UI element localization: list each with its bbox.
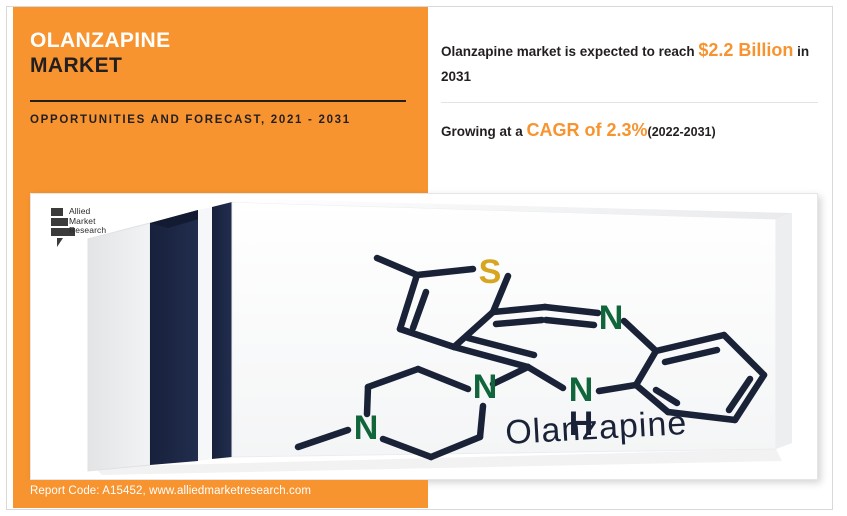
atom-nitrogen-amine: N xyxy=(569,371,594,409)
infographic-root: OLANZAPINE MARKET OPPORTUNITIES AND FORE… xyxy=(0,0,847,516)
stat-cagr: Growing at a CAGR of 2.3%(2022-2031) xyxy=(441,118,819,145)
stats-panel: Olanzapine market is expected to reach $… xyxy=(428,7,832,185)
bond-c2-cimine-double xyxy=(496,320,542,324)
stat-cagr-value: CAGR of 2.3% xyxy=(527,120,648,140)
stat-market-size-value: $2.2 Billion xyxy=(698,40,793,60)
atom-nitrogen-imine: N xyxy=(599,299,624,337)
atom-nitrogen-piperazine-1: N xyxy=(473,368,498,406)
box-navy-spine xyxy=(150,210,198,465)
box-left-panel xyxy=(88,223,150,471)
logo-bar-2 xyxy=(51,218,68,226)
artwork-card: Allied Market Research xyxy=(30,193,818,480)
footer-report-code: Report Code: A15452, www.alliedmarketres… xyxy=(30,485,311,497)
box-right-edge xyxy=(776,213,792,449)
box-navy-stripe xyxy=(212,202,232,459)
stat-cagr-period: (2022-2031) xyxy=(648,125,716,139)
bond-pip-6 xyxy=(480,406,483,437)
stat-market-size-line: Olanzapine market is expected to reach $… xyxy=(441,38,819,89)
atom-sulfur: S xyxy=(479,253,502,291)
footer-bar: Report Code: A15452, www.alliedmarketres… xyxy=(13,480,428,508)
stat-cagr-line: Growing at a CAGR of 2.3%(2022-2031) xyxy=(441,118,819,145)
stats-divider xyxy=(441,102,818,103)
title-line-secondary: MARKET xyxy=(30,53,408,78)
title-line-primary: OLANZAPINE xyxy=(30,28,408,53)
box-gap xyxy=(198,207,212,461)
molecule-box-illustration: S N N H N N Olanzapine xyxy=(76,199,806,479)
title-divider xyxy=(30,100,406,102)
stat-market-size-prefix: Olanzapine market is expected to reach xyxy=(441,44,698,59)
logo-bubble-tail xyxy=(57,238,63,247)
stat-market-size: Olanzapine market is expected to reach $… xyxy=(441,38,819,89)
page-title: OLANZAPINE MARKET xyxy=(30,28,408,78)
stat-cagr-prefix: Growing at a xyxy=(441,124,527,139)
report-subtitle: OPPORTUNITIES AND FORECAST, 2021 - 2031 xyxy=(30,111,412,130)
atom-nitrogen-piperazine-2: N xyxy=(354,409,379,447)
molecule-box-svg: S N N H N N Olanzapine xyxy=(76,199,806,479)
logo-bar-1 xyxy=(51,208,63,216)
